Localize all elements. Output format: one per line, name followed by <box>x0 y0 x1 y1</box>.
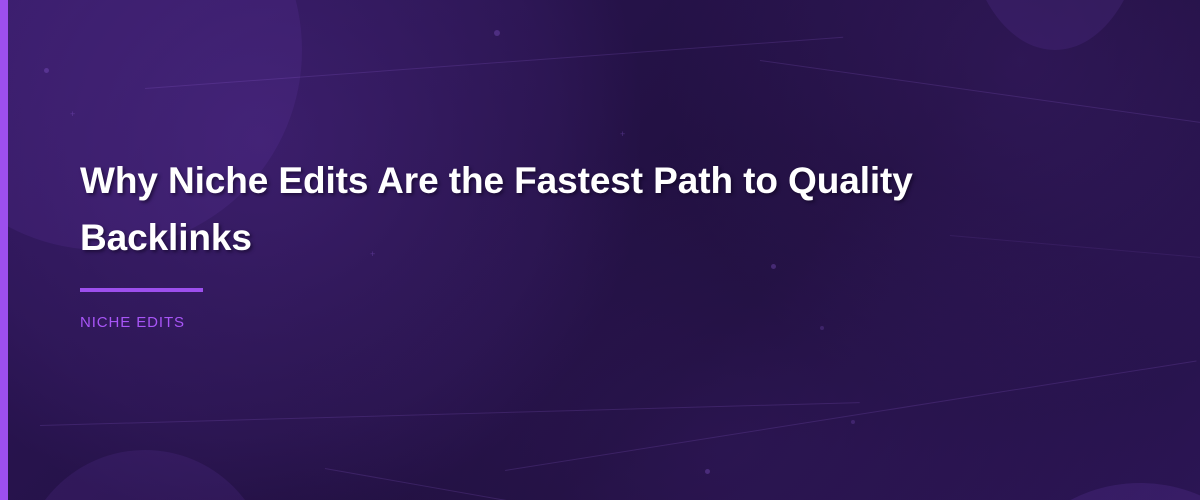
decorative-speck-4 <box>705 469 710 474</box>
decorative-speck-1 <box>44 68 49 73</box>
decorative-hairline-5 <box>325 468 739 500</box>
decorative-speck-6 <box>851 420 855 424</box>
decorative-circle-bottom-left <box>20 450 270 500</box>
decorative-hairline-4 <box>505 360 1197 470</box>
hero-content: Why Niche Edits Are the Fastest Path to … <box>80 152 1070 331</box>
title-divider <box>80 288 203 292</box>
decorative-speck-2 <box>494 30 500 36</box>
hero-banner: + + + Why Niche Edits Are the Fastest Pa… <box>0 0 1200 500</box>
decorative-plus-icon-3: + <box>70 110 75 119</box>
category-label: NICHE EDITS <box>80 314 1070 331</box>
decorative-circle-bottom-right <box>1010 483 1200 500</box>
decorative-hairline-2 <box>760 60 1200 126</box>
left-accent-bar <box>0 0 8 500</box>
page-title: Why Niche Edits Are the Fastest Path to … <box>80 152 1040 266</box>
decorative-circle-top-right <box>965 0 1145 50</box>
decorative-hairline-3 <box>40 402 860 426</box>
decorative-plus-icon-2: + <box>620 130 625 139</box>
decorative-hairline-1 <box>145 37 843 89</box>
